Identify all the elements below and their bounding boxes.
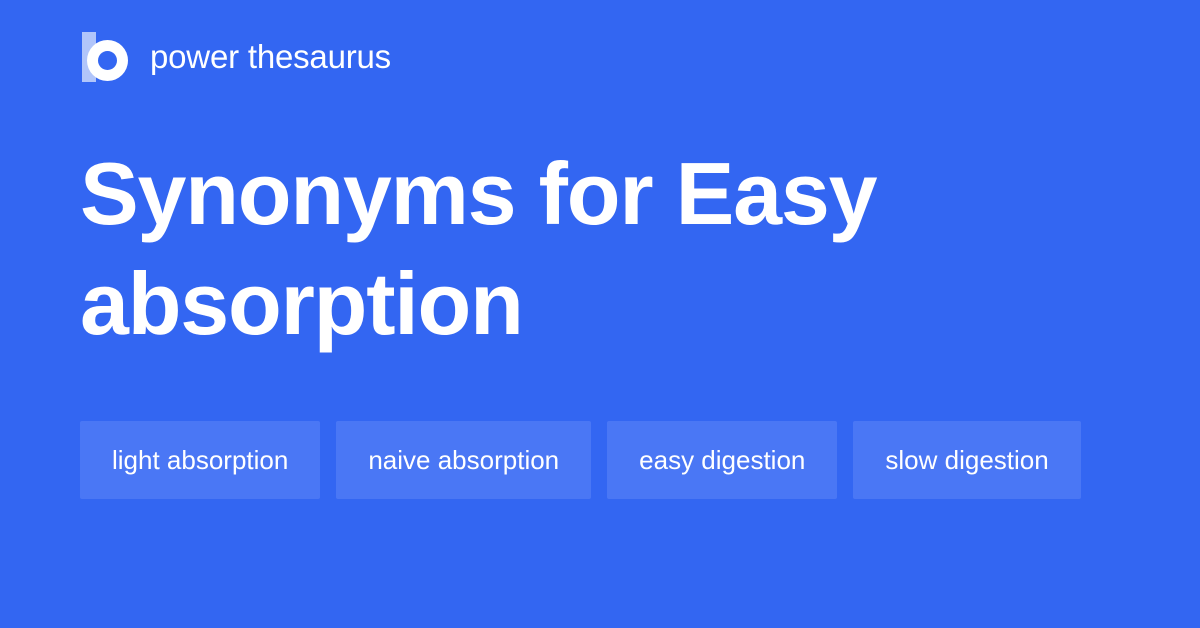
brand-name: power thesaurus (150, 40, 391, 73)
brand-header[interactable]: power thesaurus (80, 32, 391, 80)
synonym-chip[interactable]: naive absorption (336, 421, 591, 499)
synonym-chip[interactable]: easy digestion (607, 421, 837, 499)
synonym-chip[interactable]: light absorption (80, 421, 320, 499)
page-title-line-1: Synonyms for Easy (80, 139, 1120, 249)
synonym-chip-list: light absorption naive absorption easy d… (80, 421, 1120, 499)
page-title: Synonyms for Easy absorption (80, 139, 1120, 359)
logo-counter-shape (98, 51, 117, 70)
synonym-chip[interactable]: slow digestion (853, 421, 1080, 499)
page-title-line-2: absorption (80, 249, 1120, 359)
power-thesaurus-logo-icon (80, 31, 128, 81)
